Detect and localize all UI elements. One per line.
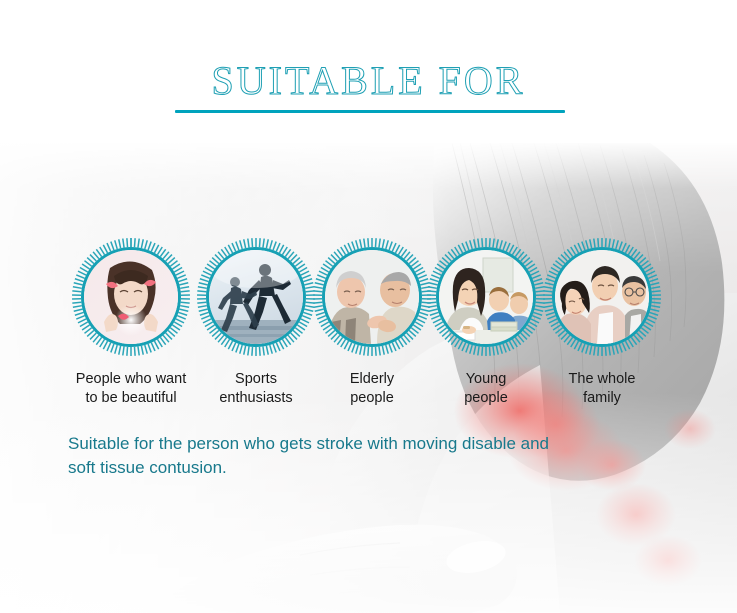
- audience-circle-young[interactable]: [426, 237, 546, 357]
- header-band: SUITABLE FOR: [0, 0, 737, 143]
- audience-photo-family: [552, 247, 652, 347]
- caption-family-line2: family: [527, 389, 677, 408]
- audience-photo-sports: [206, 247, 306, 347]
- audience-circle-family[interactable]: [542, 237, 662, 357]
- audience-photo-beauty: [81, 247, 181, 347]
- suitable-for-banner: SUITABLE FOR: [0, 0, 737, 613]
- audience-circle-elderly[interactable]: [312, 237, 432, 357]
- title-underline: [175, 110, 565, 113]
- caption-family: The whole family: [527, 370, 677, 408]
- elderly-couple-photo: [325, 250, 419, 344]
- description-text: Suitable for the person who gets stroke …: [68, 432, 683, 480]
- family-group-photo: [555, 250, 649, 344]
- runners-photo: [209, 250, 303, 344]
- audience-captions: People who want to be beautiful Sports e…: [0, 370, 737, 412]
- caption-family-line1: The whole: [527, 370, 677, 389]
- audience-photo-young: [436, 247, 536, 347]
- page-title: SUITABLE FOR: [0, 59, 737, 103]
- audience-circle-sports[interactable]: [196, 237, 316, 357]
- description-line2: soft tissue contusion.: [68, 456, 683, 480]
- description-line1: Suitable for the person who gets stroke …: [68, 432, 683, 456]
- audience-circle-beauty[interactable]: [71, 237, 191, 357]
- audience-photo-elderly: [322, 247, 422, 347]
- audience-circle-row: [0, 237, 737, 357]
- students-studying-photo: [439, 250, 533, 344]
- woman-skincare-photo: [84, 250, 178, 344]
